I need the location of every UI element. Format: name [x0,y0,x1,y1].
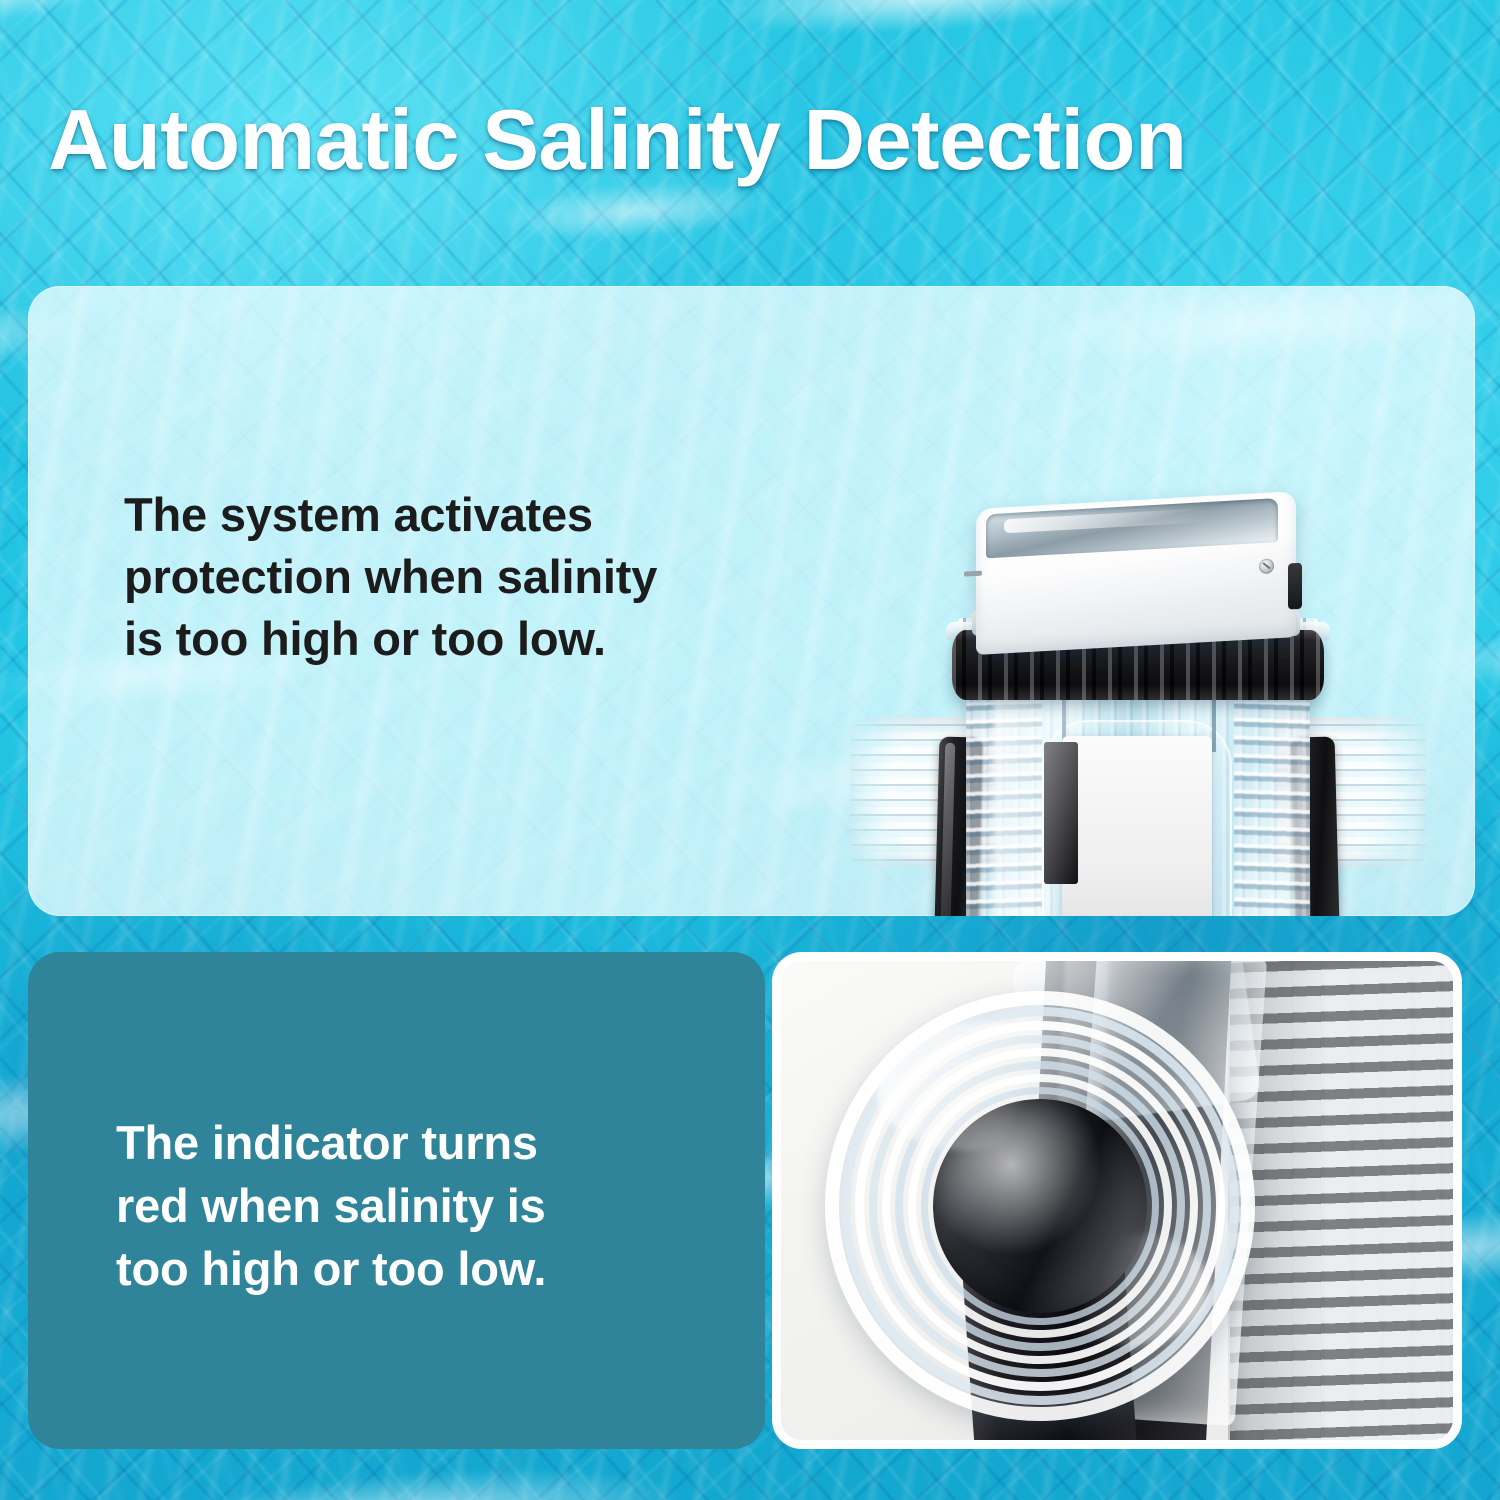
feature-panel-one: The system activates protection when sal… [28,286,1475,916]
feature-two-text: The indicator turns red when salinity is… [116,1112,546,1301]
poster-canvas: Automatic Salinity Detection The system … [0,0,1500,1500]
electrode-plate-icon [1062,736,1212,916]
page-title: Automatic Salinity Detection [48,96,1500,185]
display-window-icon [986,498,1278,558]
product-closeup-photo [772,952,1462,1449]
head-cable-icon [1288,563,1302,610]
product-image-salt-cell [848,482,1428,916]
threaded-port-closeup-icon [811,977,1270,1436]
feature-panel-two: The indicator turns red when salinity is… [28,952,765,1449]
housing-glare-icon [994,695,1083,916]
head-nub-icon [964,571,982,577]
housing-rib-right-icon [1234,702,1310,916]
control-head-icon [976,491,1296,655]
head-screw-icon [1259,558,1274,574]
clear-housing-icon [966,682,1310,916]
